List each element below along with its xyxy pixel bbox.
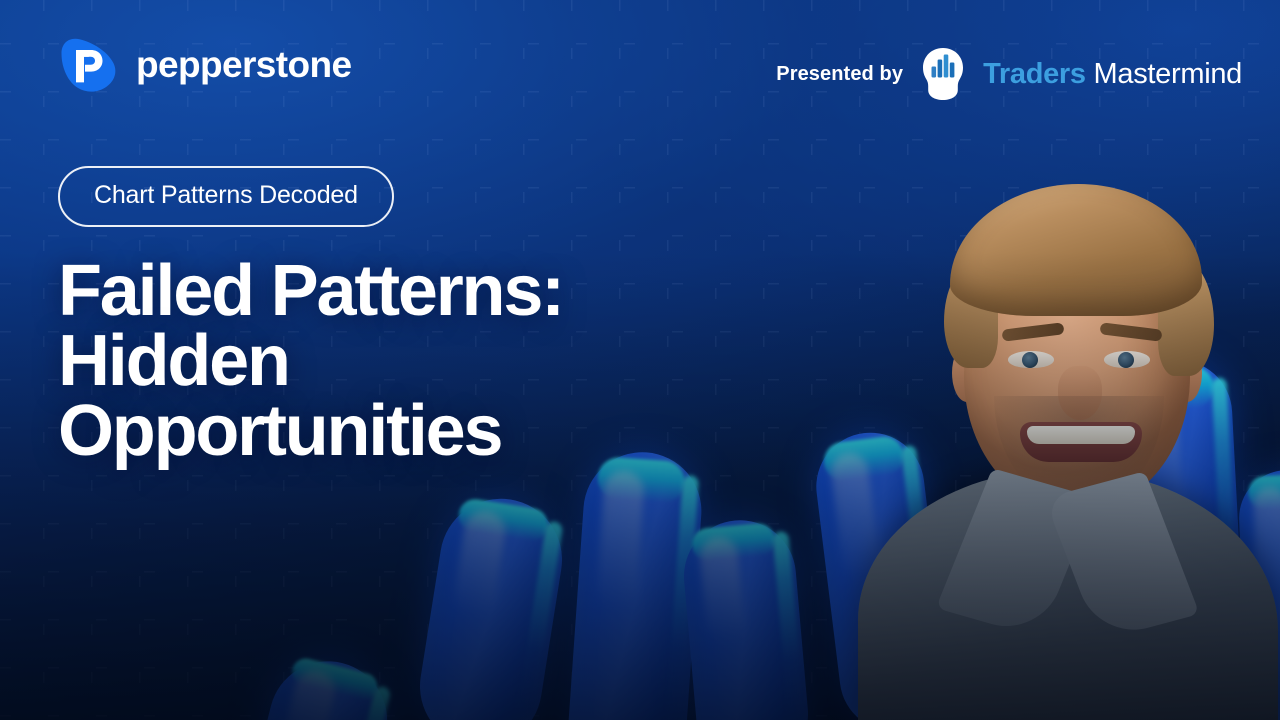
wordmark-mastermind: Mastermind: [1086, 58, 1242, 90]
bar-shape: [679, 516, 812, 720]
presenter-eye-left: [1008, 351, 1054, 368]
video-thumbnail-canvas: pepperstone Presented by Traders Masterm…: [0, 0, 1280, 720]
presented-by-block[interactable]: Presented by Traders Mastermind: [776, 46, 1242, 102]
bar-shape: [565, 448, 706, 720]
bar-shape: [234, 649, 399, 720]
presenter-portrait: [812, 80, 1280, 720]
presenter-eye-right: [1104, 351, 1150, 368]
series-badge[interactable]: Chart Patterns Decoded: [58, 166, 394, 227]
pepperstone-wordmark: pepperstone: [136, 44, 351, 86]
presenter-hair: [950, 184, 1202, 316]
header: pepperstone Presented by Traders Masterm…: [0, 0, 1280, 140]
pepperstone-brand[interactable]: pepperstone: [58, 36, 351, 94]
bar-shape: [411, 490, 571, 720]
page-title: Failed Patterns: Hidden Opportunities: [58, 257, 778, 466]
pepperstone-p-logo-icon: [58, 36, 118, 94]
wordmark-traders: Traders: [983, 58, 1086, 90]
presenter-nose: [1058, 366, 1102, 420]
head-with-bar-chart-icon: [917, 46, 969, 102]
title-block: Chart Patterns Decoded Failed Patterns: …: [58, 166, 778, 466]
traders-mastermind-wordmark: Traders Mastermind: [983, 58, 1242, 91]
presented-by-label: Presented by: [776, 63, 903, 86]
presenter-smile: [1020, 422, 1142, 462]
